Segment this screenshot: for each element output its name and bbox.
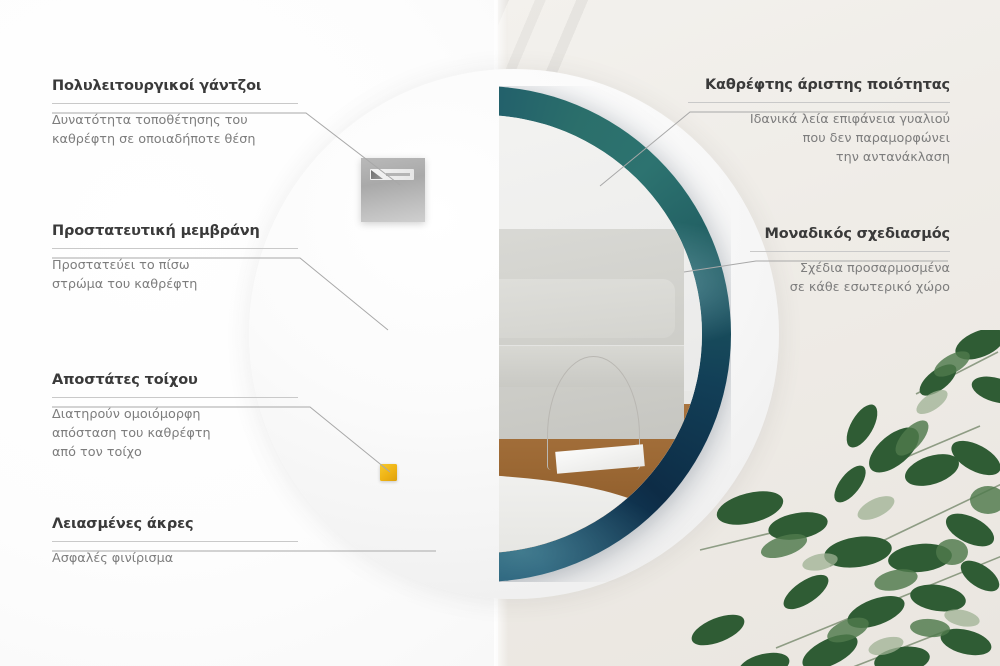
callout-rule — [52, 248, 298, 249]
callout-description: Διατηρούν ομοιόμορφη απόσταση του καθρέφ… — [52, 406, 298, 462]
callout-description: Δυνατότητα τοποθέτησης του καθρέφτη σε ο… — [52, 112, 298, 150]
callout-unique-design: Μοναδικός σχεδιασμός Σχέδια προσαρμοσμέν… — [750, 226, 950, 298]
callout-description: Προστατεύει το πίσω στρώμα του καθρέφτη — [52, 257, 298, 295]
callout-description: Σχέδια προσαρμοσμένα σε κάθε εσωτερικό χ… — [750, 260, 950, 298]
callout-title: Αποστάτες τοίχου — [52, 372, 298, 389]
callout-title: Πολυλειτουργικοί γάντζοι — [52, 78, 298, 95]
wall-spacer-pad — [380, 464, 397, 481]
callout-rule — [52, 103, 298, 104]
callout-top-quality-mirror: Καθρέφτης άριστης ποιότητας Ιδανικά λεία… — [688, 77, 950, 168]
callout-title: Προστατευτική μεμβράνη — [52, 223, 298, 240]
hanging-hook-plate — [361, 158, 425, 222]
callout-rule — [750, 251, 950, 252]
callout-title: Λειασμένες άκρες — [52, 516, 298, 533]
callout-multifunctional-hooks: Πολυλειτουργικοί γάντζοι Δυνατότητα τοπο… — [52, 78, 298, 150]
hook-slot-icon — [370, 169, 414, 180]
callout-rule — [52, 541, 298, 542]
mirror-glass-reflection — [499, 115, 702, 553]
callout-rule — [688, 102, 950, 103]
reflected-sofa-back — [499, 279, 675, 338]
callout-title: Καθρέφτης άριστης ποιότητας — [688, 77, 950, 94]
callout-smoothed-edges: Λειασμένες άκρες Ασφαλές φινίρισμα — [52, 516, 298, 569]
callout-rule — [52, 397, 298, 398]
callout-wall-spacers: Αποστάτες τοίχου Διατηρούν ομοιόμορφη απ… — [52, 372, 298, 463]
decorative-foliage — [680, 330, 1000, 666]
callout-description: Ασφαλές φινίρισμα — [52, 550, 298, 569]
callout-description: Ιδανικά λεία επιφάνεια γυαλιού που δεν π… — [688, 111, 950, 167]
infographic-canvas: Πολυλειτουργικοί γάντζοι Δυνατότητα τοπο… — [0, 0, 1000, 666]
callout-protective-membrane: Προστατευτική μεμβράνη Προστατεύει το πί… — [52, 223, 298, 295]
callout-title: Μοναδικός σχεδιασμός — [750, 226, 950, 243]
